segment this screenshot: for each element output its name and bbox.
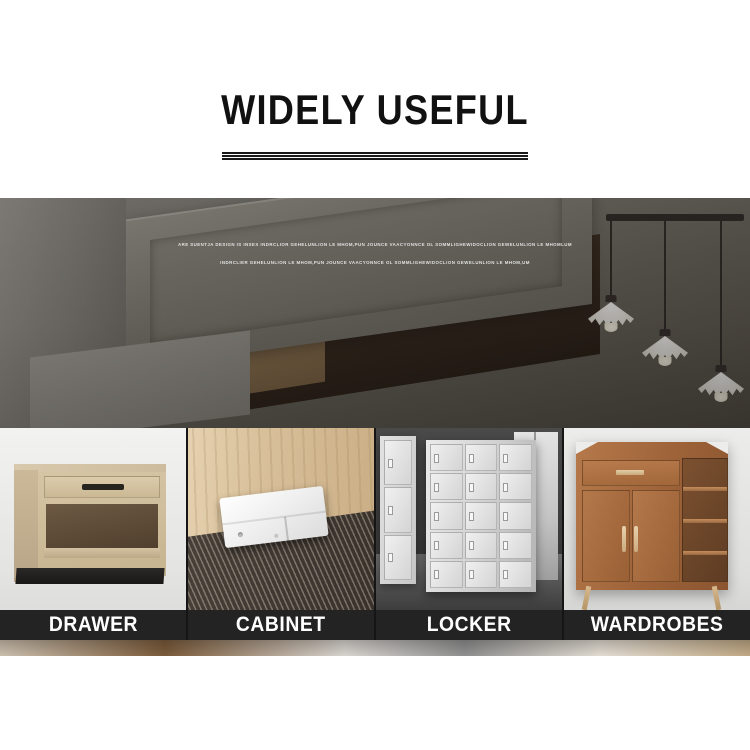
wardrobe-scene [564, 428, 750, 640]
wardrobe-drawer-handle-icon [616, 470, 644, 475]
locker-cell [465, 473, 498, 500]
nightstand-handle-icon [82, 484, 124, 490]
locker-cell [499, 444, 532, 471]
product-feature-page: WIDELY USEFUL ARE SUENTJA DESIGN IS INSE… [0, 0, 750, 750]
locker-cell [465, 532, 498, 559]
hero-microtext-line-1: ARE SUENTJA DESIGN IS INSEX INDRCLIOR GE… [0, 242, 750, 247]
image-sliver [0, 640, 750, 656]
locker-cell [499, 532, 532, 559]
locker-cell [430, 561, 463, 588]
locker-cell [384, 487, 412, 532]
locker-scene [376, 428, 562, 640]
locker-unit-left [380, 436, 416, 584]
panel-caption-wardrobes: WARDROBES [564, 610, 750, 640]
locker-cell [430, 502, 463, 529]
panel-caption-locker: LOCKER [376, 610, 562, 640]
locker-cell [384, 535, 412, 580]
panel-caption-drawer: DRAWER [0, 610, 186, 640]
locker-cell [499, 473, 532, 500]
panel-locker[interactable]: LOCKER [376, 428, 564, 640]
panel-cabinet[interactable]: CABINET [188, 428, 376, 640]
wardrobe-open-shelves [682, 458, 728, 582]
locker-cell [430, 444, 463, 471]
locker-cell [430, 473, 463, 500]
locker-cell [384, 440, 412, 485]
category-panels: DRAWER CABINET [0, 428, 750, 640]
title-block: WIDELY USEFUL [0, 88, 750, 161]
title-divider [222, 152, 528, 161]
locker-cell [499, 561, 532, 588]
panel-caption-cabinet: CABINET [188, 610, 374, 640]
locker-cell [465, 444, 498, 471]
wardrobe-handle-left-icon [622, 526, 626, 552]
panel-drawer[interactable]: DRAWER [0, 428, 188, 640]
page-title: WIDELY USEFUL [53, 88, 698, 132]
locker-cell [465, 502, 498, 529]
locker-cell [465, 561, 498, 588]
wardrobe-handle-right-icon [634, 526, 638, 552]
locker-cell [499, 502, 532, 529]
panel-wardrobes[interactable]: WARDROBES [564, 428, 750, 640]
hero-banner: ARE SUENTJA DESIGN IS INSEX INDRCLIOR GE… [0, 198, 750, 428]
locker-cell [430, 532, 463, 559]
locker-unit-center [426, 440, 536, 592]
hero-overlay-scrim [0, 198, 750, 428]
drawer-scene [0, 428, 186, 640]
cabinet-scene [188, 428, 374, 640]
bottom-whitespace [0, 656, 750, 750]
hero-microtext-line-2: INDRCLIER GEHELUNLION LE MHOM,PUN JOUNCE… [0, 260, 750, 265]
